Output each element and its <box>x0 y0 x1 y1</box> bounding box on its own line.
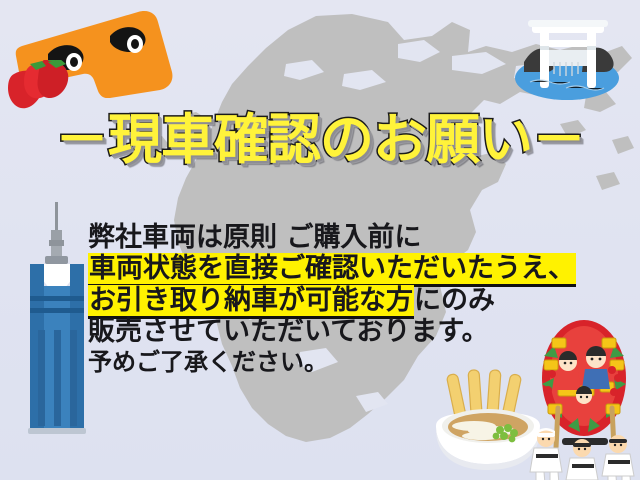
body-line-2-highlighted-text: 車両状態を直接ご確認いただいたうえ、 <box>88 253 576 287</box>
body-line-5: 予めご了承ください。 <box>88 349 608 377</box>
body-line-3: お引き取り納車が可能な方にのみ <box>88 285 608 316</box>
poster-title-container: －現車確認のお願い－ <box>0 112 640 167</box>
poster-canvas: －現車確認のお願い－ 弊社車両は原則 ご購入前に 車両状態を直接ご確認いただいた… <box>0 0 640 480</box>
body-line-1-text: 弊社車両は原則 ご購入前に <box>88 222 421 253</box>
body-line-3-plain-text: にのみ <box>414 285 495 316</box>
body-line-5-text: 予めご了承ください。 <box>88 348 328 376</box>
torii-gate-icon <box>508 10 626 102</box>
body-line-1: 弊社車両は原則 ご購入前に <box>88 222 608 253</box>
poster-body-copy: 弊社車両は原則 ご購入前に 車両状態を直接ご確認いただいたうえ、 お引き取り納車… <box>88 222 608 377</box>
blue-tower-icon <box>20 200 96 452</box>
body-line-2: 車両状態を直接ご確認いただいたうえ、 <box>88 253 608 284</box>
poster-title: －現車確認のお願い－ <box>55 112 585 167</box>
body-line-4: 販売させていただいております。 <box>88 316 608 347</box>
body-line-3-highlighted-text: お引き取り納車が可能な方 <box>88 285 414 319</box>
strawberry-icon <box>4 60 74 112</box>
body-line-4-text: 販売させていただいております。 <box>88 316 489 347</box>
